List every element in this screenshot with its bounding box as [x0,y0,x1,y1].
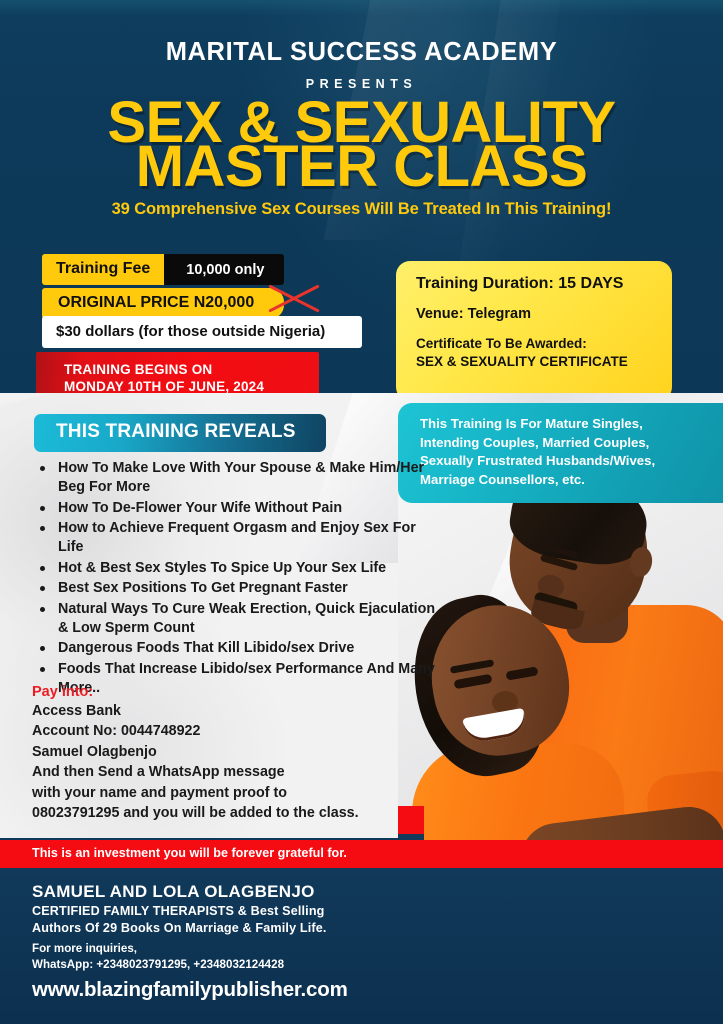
training-duration: Training Duration: 15 DAYS [416,275,672,293]
footer-bar: SAMUEL AND LOLA OLAGBENJO CERTIFIED FAMI… [0,868,723,1024]
payment-heading: Pay into: [32,684,93,700]
training-fee-amount: 10,000 only [164,254,284,285]
audience-line2: Intending Couples, Married Couples, [420,434,715,453]
inquiries-block: For more inquiries, WhatsApp: +234802379… [32,941,284,973]
certificate-name: SEX & SEXUALITY CERTIFICATE [416,353,672,371]
certificate-info: Certificate To Be Awarded: SEX & SEXUALI… [416,335,672,371]
credentials-line2: Authors Of 29 Books On Marriage & Family… [32,920,327,937]
payment-instruction-2: with your name and payment proof to [32,783,432,803]
payment-details: Access Bank Account No: 0044748922 Samue… [32,701,432,824]
academy-name: MARITAL SUCCESS ACADEMY [0,38,723,67]
list-item: How To De-Flower Your Wife Without Pain [36,499,436,518]
presenter-credentials: CERTIFIED FAMILY THERAPISTS & Best Selli… [32,903,327,936]
event-subtitle: 39 Comprehensive Sex Courses Will Be Tre… [0,200,723,219]
payment-bank: Access Bank [32,701,432,721]
training-details-card: Training Duration: 15 DAYS Venue: Telegr… [396,261,672,401]
list-item: How To Make Love With Your Spouse & Make… [36,459,436,498]
list-item: Dangerous Foods That Kill Libido/sex Dri… [36,639,436,658]
dollar-price-row: $30 dollars (for those outside Nigeria) [42,316,362,348]
inquiries-label: For more inquiries, [32,941,284,957]
investment-banner: This is an investment you will be foreve… [0,840,723,868]
list-item: Natural Ways To Cure Weak Erection, Quic… [36,600,436,639]
event-title-line2: MASTER CLASS [0,140,723,193]
payment-account-name: Samuel Olagbenjo [32,742,432,762]
training-venue: Venue: Telegram [416,306,672,322]
website-url[interactable]: www.blazingfamilypublisher.com [32,978,348,1002]
start-date-line1: TRAINING BEGINS ON [64,361,319,378]
list-item: Foods That Increase Libido/sex Performan… [36,660,436,699]
audience-box: This Training Is For Mature Singles, Int… [398,403,723,503]
certificate-label: Certificate To Be Awarded: [416,335,672,353]
payment-whatsapp-number: 08023791295 and you will be added to the… [32,803,432,823]
training-fee-label: Training Fee [42,254,164,285]
original-price-badge: ORIGINAL PRICE N20,000 [42,288,284,319]
presenter-names: SAMUEL AND LOLA OLAGBENJO [32,882,315,902]
credentials-line1: CERTIFIED FAMILY THERAPISTS & Best Selli… [32,903,327,920]
training-fee-row: Training Fee 10,000 only [42,254,284,285]
reveals-heading: THIS TRAINING REVEALS [34,414,326,452]
inquiries-whatsapp: WhatsApp: +2348023791295, +2348032124428 [32,957,284,973]
list-item: Best Sex Positions To Get Pregnant Faste… [36,579,436,598]
list-item: Hot & Best Sex Styles To Spice Up Your S… [36,559,436,578]
payment-instruction-1: And then Send a WhatsApp message [32,762,432,782]
reveals-list: How To Make Love With Your Spouse & Make… [36,459,436,699]
presents-label: PRESENTS [0,77,723,91]
flyer-poster: MARITAL SUCCESS ACADEMY PRESENTS SEX & S… [0,0,723,1024]
payment-account-number: Account No: 0044748922 [32,721,432,741]
audience-line1: This Training Is For Mature Singles, [420,415,715,434]
audience-line4: Marriage Counsellors, etc. [420,471,715,490]
investment-note: This is an investment you will be foreve… [32,846,347,860]
audience-line3: Sexually Frustrated Husbands/Wives, [420,452,715,471]
list-item: How to Achieve Frequent Orgasm and Enjoy… [36,519,436,558]
